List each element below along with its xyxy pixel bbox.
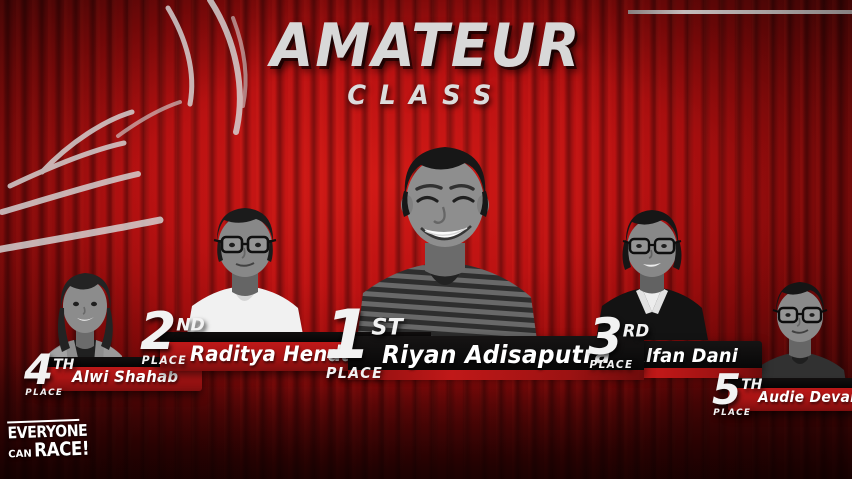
place-label-2: PLACE <box>142 356 204 366</box>
rank-number-3: 3RD PLACE <box>588 316 649 369</box>
winner-name-5: Audie Devanugraha <box>758 388 852 406</box>
rank-ordinal-1: ST <box>371 314 402 340</box>
place-label-5: PLACE <box>713 409 761 417</box>
leaderboard-graphic: AMATEUR CLASS <box>0 0 852 479</box>
rank-digit-4: 4 <box>24 352 53 388</box>
title-block: AMATEUR CLASS <box>0 16 852 111</box>
rank-number-1: 1ST PLACE <box>324 307 403 379</box>
rank-number-5: 5TH PLACE <box>712 372 762 417</box>
place-label-3: PLACE <box>590 360 648 369</box>
rank-ordinal-2: ND <box>176 316 205 336</box>
rank-ordinal-5: TH <box>741 377 762 393</box>
everyone-can-race-logo[interactable]: EVERYONE CAN RACE! <box>7 419 91 472</box>
fifth-place-photo <box>748 268 852 396</box>
rank-digit-5: 5 <box>712 372 741 408</box>
rank-digit-3: 3 <box>588 316 623 359</box>
top-right-accent-line <box>628 10 852 14</box>
winner-name-1: Riyan Adisaputra <box>382 340 611 369</box>
rank-number-4: 4TH PLACE <box>24 352 74 397</box>
logo-line-2: CAN <box>8 449 32 461</box>
page-subtitle: CLASS <box>21 80 830 111</box>
rank-digit-1: 1 <box>324 307 371 365</box>
place-label-1: PLACE <box>326 367 401 380</box>
rank-number-2: 2ND PLACE <box>140 310 205 365</box>
rank-digit-2: 2 <box>140 310 176 354</box>
place-label-4: PLACE <box>25 389 73 397</box>
rank-ordinal-3: RD <box>623 321 649 340</box>
rank-ordinal-4: TH <box>53 357 74 373</box>
logo-line-3: RACE! <box>34 439 90 461</box>
page-title: AMATEUR <box>34 16 818 76</box>
